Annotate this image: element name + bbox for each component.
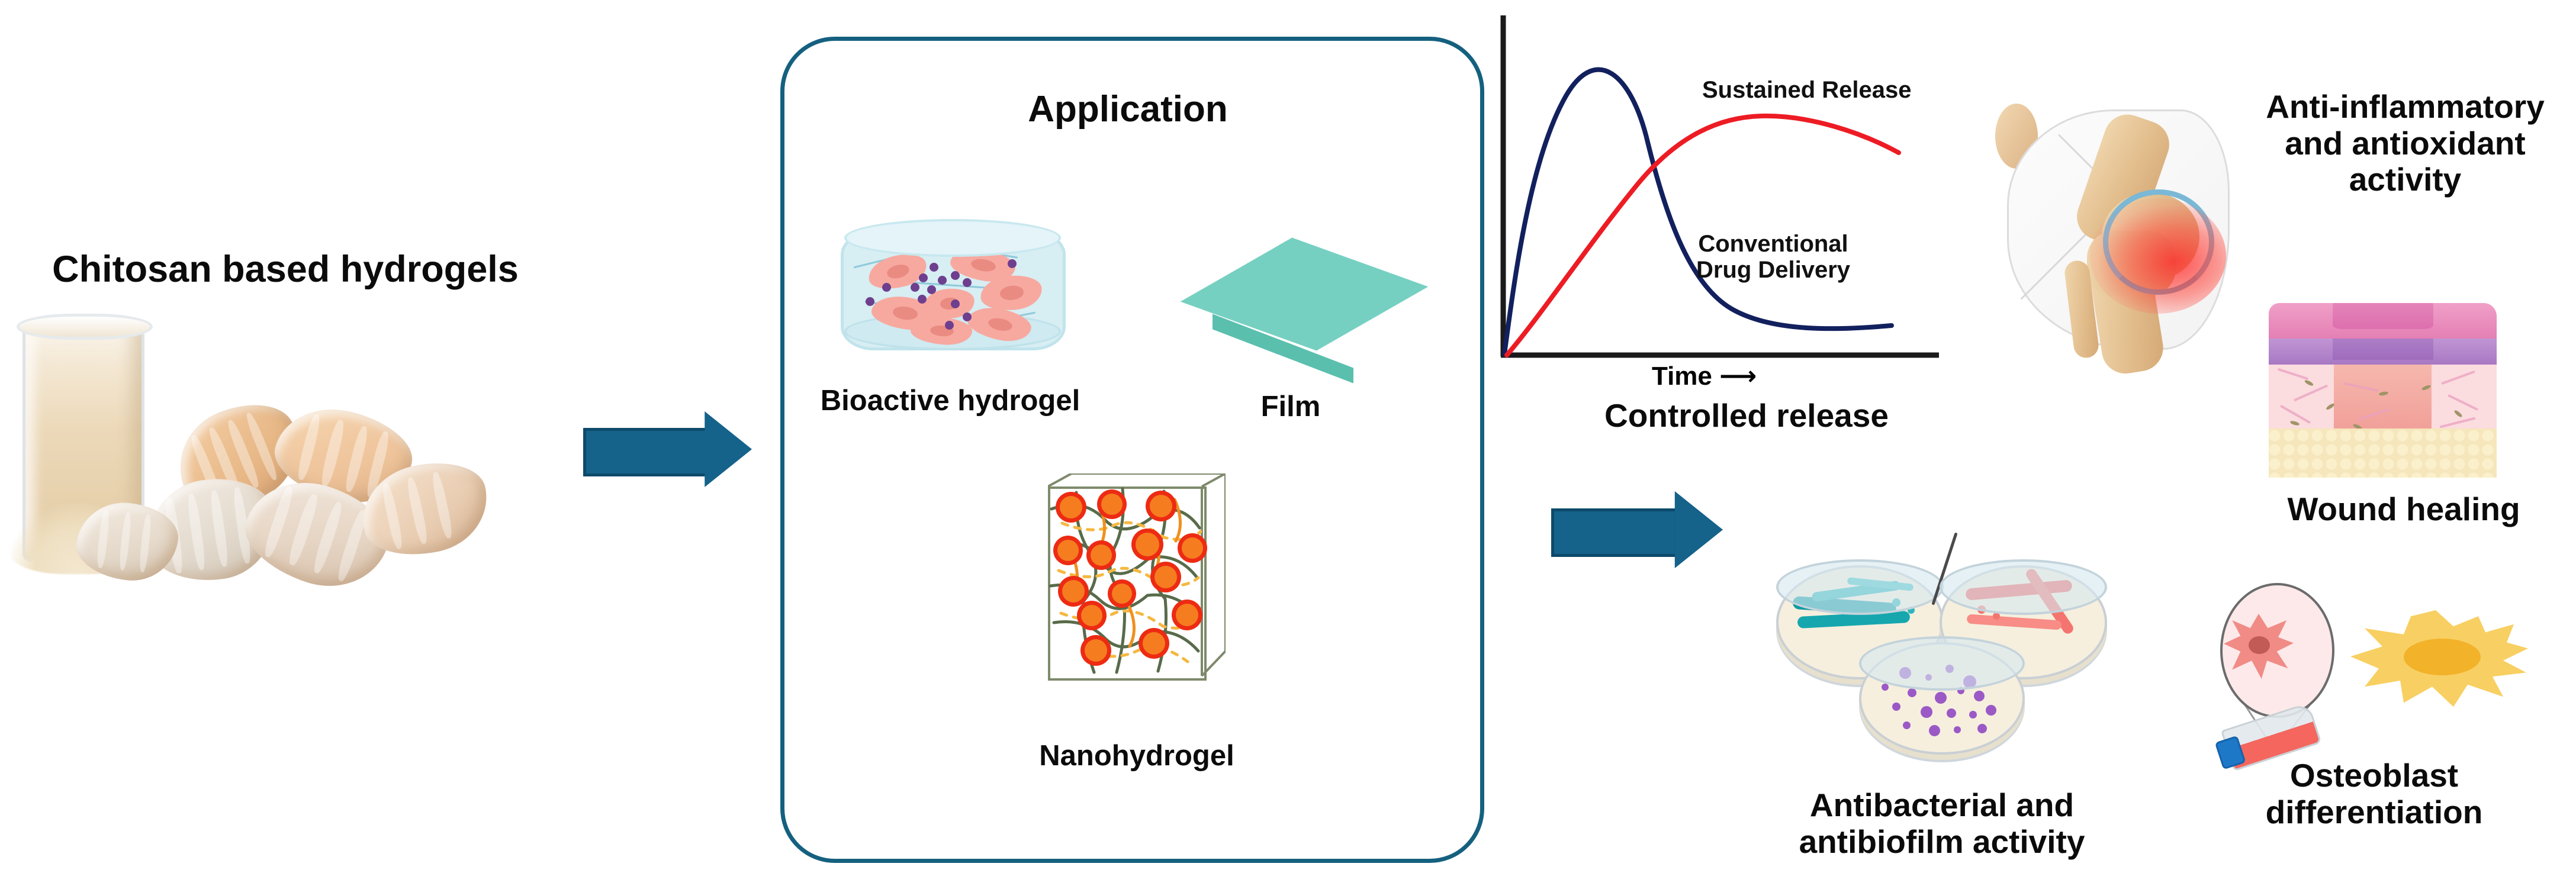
arrow-shaft: [583, 428, 711, 476]
source-title: Chitosan based hydrogels: [25, 249, 546, 291]
beaker-rim: [17, 314, 153, 340]
inflammation-glow: [2090, 198, 2226, 314]
right-arrow-icon: ⟶: [1719, 362, 1757, 391]
application-panel-title: Application: [924, 89, 1332, 130]
time-label-text: Time: [1652, 362, 1712, 391]
wound-healing-label: Wound healing: [2250, 491, 2558, 528]
nanohydrogel-label: Nanohydrogel: [983, 740, 1291, 772]
controlled-release-label: Controlled release: [1545, 398, 1948, 434]
film-icon: [1202, 237, 1379, 379]
application-panel: [780, 37, 1484, 863]
arrow-head: [705, 411, 752, 487]
arrow-head: [1675, 491, 1723, 568]
film-label: Film: [1196, 391, 1385, 423]
anti-inflammatory-label: Anti-inflammatory and antioxidant activi…: [2244, 89, 2567, 198]
conventional-drug-delivery-curve: [1504, 70, 1892, 354]
subcutaneous-fat-layer: [2269, 428, 2497, 478]
osteoblast-label: Osteoblast differentiation: [2226, 758, 2522, 830]
antibacterial-label: Antibacterial and antibiofilm activity: [1752, 787, 2131, 860]
controlled-release-chart: Sustained Release Conventional Drug Deli…: [1483, 6, 1957, 373]
sustained-release-annotation: Sustained Release: [1702, 77, 1912, 103]
wound-region: [2334, 360, 2432, 440]
bioactive-hydrogel-label: Bioactive hydrogel: [814, 385, 1086, 417]
chitosan-source-photo: [6, 308, 562, 621]
arrow-shaft: [1551, 508, 1681, 558]
arrow-application-to-outcomes: [1551, 491, 1723, 568]
osteoblast-nucleus: [2404, 639, 2481, 675]
nanohydrogel-icon: [1048, 473, 1226, 684]
petri-dishes-icon: [1776, 542, 2108, 790]
conventional-drug-delivery-annotation: Conventional Drug Delivery: [1675, 231, 1871, 283]
chart-x-axis-label: Time ⟶: [1652, 361, 1757, 391]
arrow-source-to-application: [583, 411, 752, 487]
osteoblast-differentiation-icon: [2202, 583, 2534, 761]
inflamed-knee-joint-icon: [1995, 104, 2250, 352]
cell-nucleus: [2249, 636, 2270, 654]
bioactive-hydrogel-icon: [841, 219, 1060, 355]
skin-cross-section-icon: [2269, 303, 2497, 478]
